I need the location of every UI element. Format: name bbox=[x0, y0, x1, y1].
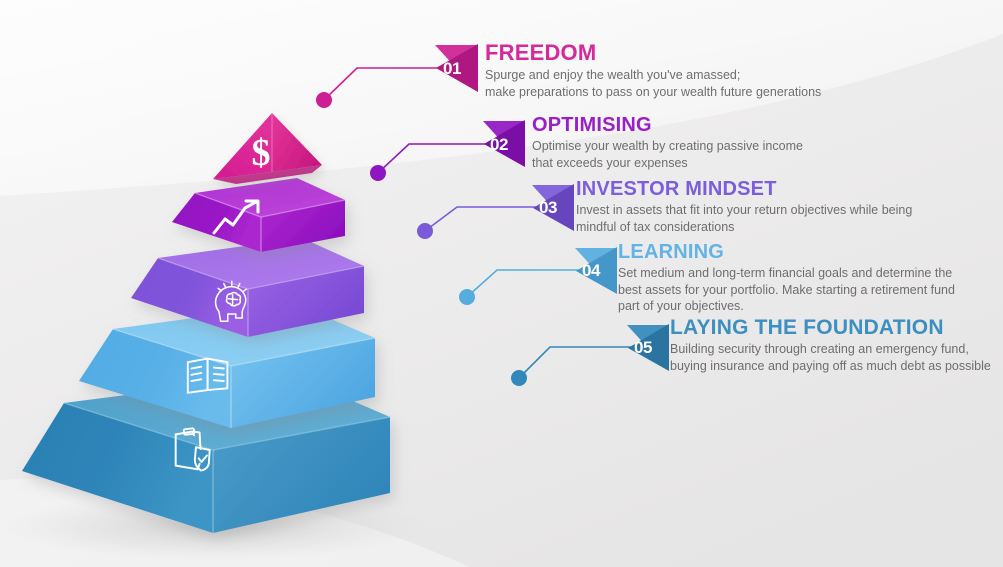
connector-04-dot bbox=[459, 289, 475, 305]
connector-01 bbox=[316, 44, 478, 108]
connector-01-dot bbox=[316, 92, 332, 108]
step-description-optimising: Optimise your wealth by creating passive… bbox=[532, 138, 803, 171]
connector-02 bbox=[370, 120, 525, 181]
connector-04-line bbox=[467, 270, 589, 297]
step-title-laying-the-foundation: LAYING THE FOUNDATION bbox=[670, 317, 991, 338]
step-description-freedom: Spurge and enjoy the wealth you've amass… bbox=[485, 67, 821, 100]
step-block-freedom[interactable]: FREEDOM Spurge and enjoy the wealth you'… bbox=[485, 42, 821, 100]
step-block-learning[interactable]: LEARNING Set medium and long-term financ… bbox=[618, 242, 955, 315]
step-description-learning: Set medium and long-term financial goals… bbox=[618, 265, 955, 315]
infographic-canvas: $ bbox=[0, 0, 1003, 567]
connector-03 bbox=[417, 184, 574, 239]
step-title-freedom: FREEDOM bbox=[485, 42, 821, 64]
step-block-laying-the-foundation[interactable]: LAYING THE FOUNDATION Building security … bbox=[670, 317, 991, 374]
connector-04 bbox=[459, 247, 617, 305]
connector-02-dot bbox=[370, 165, 386, 181]
connector-05-line bbox=[519, 347, 641, 378]
step-block-investor-mindset[interactable]: INVESTOR MINDSET Invest in assets that f… bbox=[576, 179, 912, 235]
connector-03-line bbox=[425, 207, 546, 231]
connector-05 bbox=[511, 324, 669, 386]
step-description-investor-mindset: Invest in assets that fit into your retu… bbox=[576, 202, 912, 235]
step-block-optimising[interactable]: OPTIMISING Optimise your wealth by creat… bbox=[532, 115, 803, 171]
connector-05-dot bbox=[511, 370, 527, 386]
step-title-optimising: OPTIMISING bbox=[532, 115, 803, 135]
step-title-investor-mindset: INVESTOR MINDSET bbox=[576, 179, 912, 199]
step-title-learning: LEARNING bbox=[618, 242, 955, 262]
step-description-laying-the-foundation: Building security through creating an em… bbox=[670, 341, 991, 374]
connector-03-dot bbox=[417, 223, 433, 239]
connector-02-line bbox=[378, 144, 497, 173]
connector-01-line bbox=[324, 68, 449, 100]
